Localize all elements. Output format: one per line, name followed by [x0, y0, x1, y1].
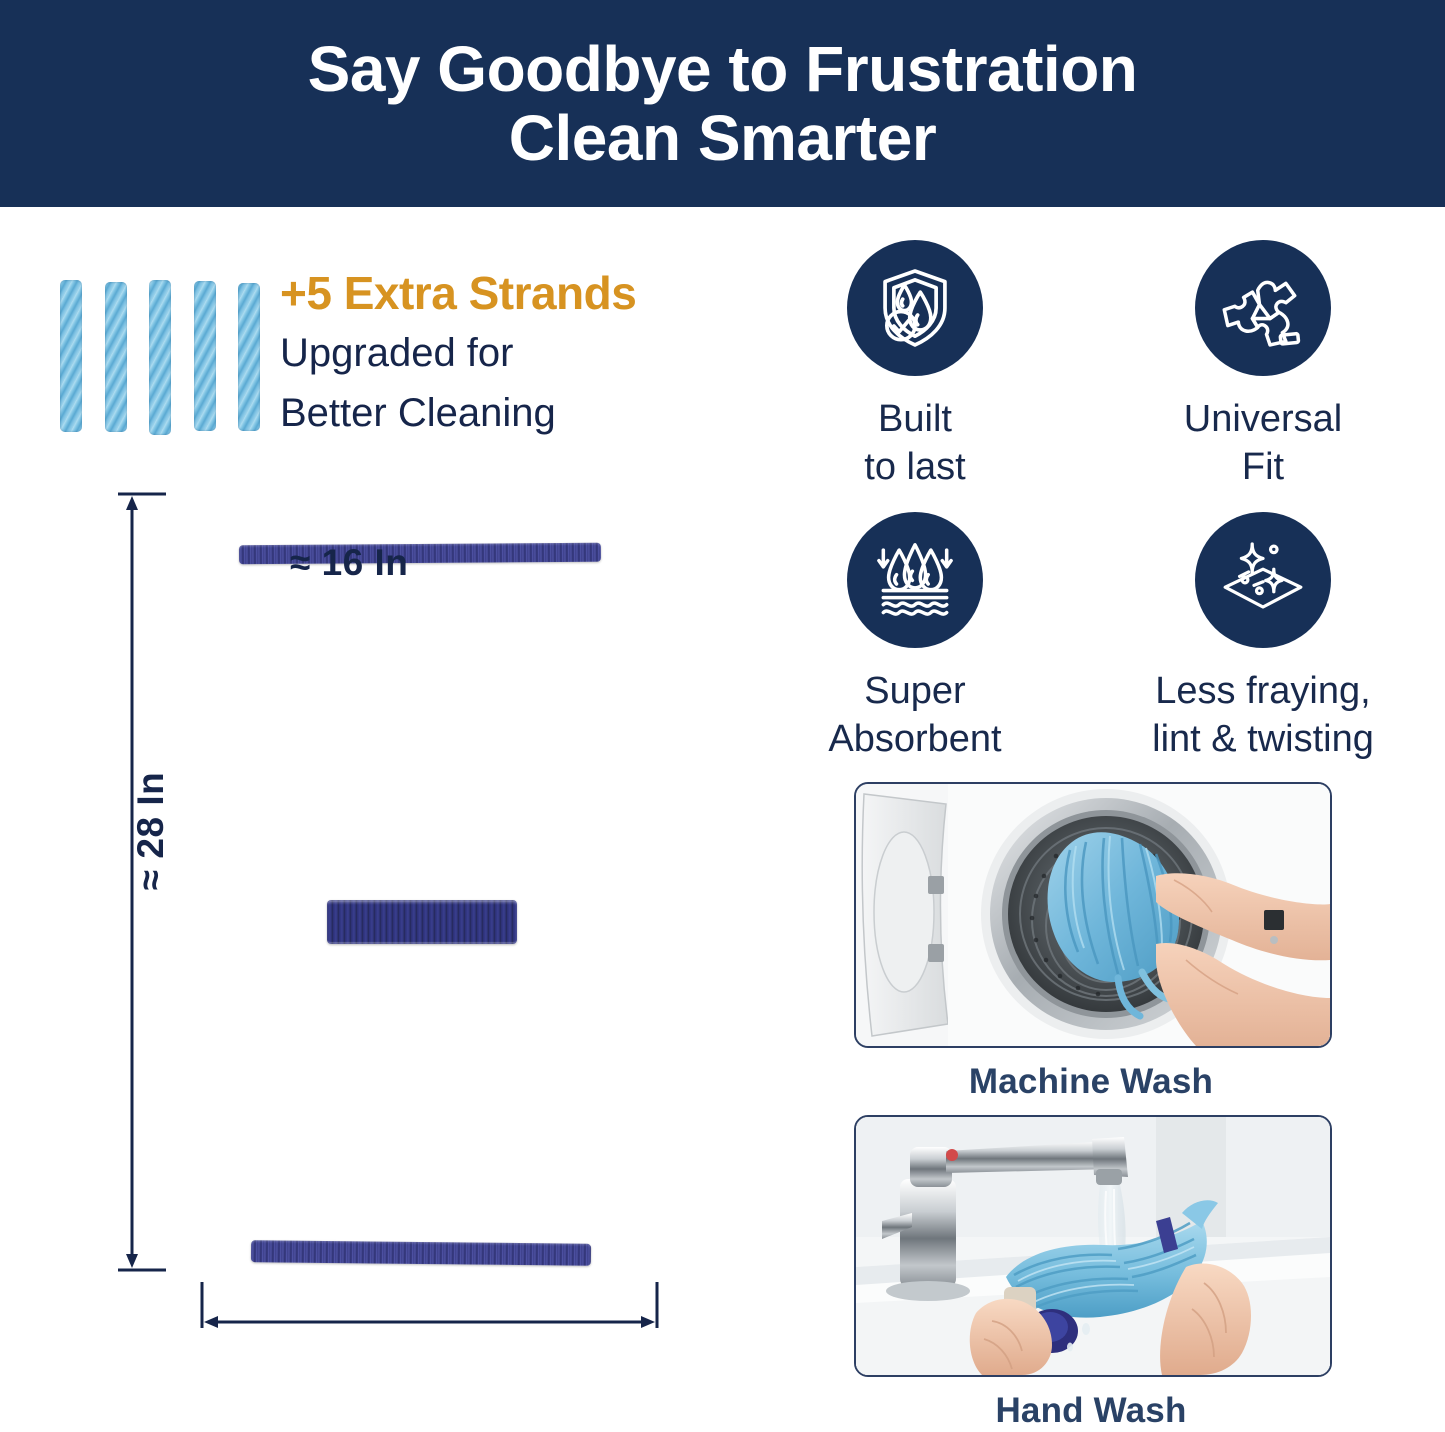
header-banner: Say Goodbye to Frustration Clean Smarter [0, 0, 1445, 207]
feature-label: Universal Fit [1184, 396, 1342, 491]
mop-in-washing-machine-photo [854, 782, 1332, 1048]
width-dimension-line [110, 1280, 670, 1380]
shield-water-check-icon [847, 240, 983, 376]
hand-wash-card: Hand Wash [854, 1115, 1328, 1431]
water-drops-absorb-icon [847, 512, 983, 648]
width-dimension-label: ≈ 16 In [290, 542, 408, 584]
height-dimension-label: ≈ 28 In [130, 772, 172, 890]
mop-under-faucet-photo [854, 1115, 1332, 1377]
rope-strands-group [60, 280, 260, 440]
rope-strand-icon [149, 280, 171, 435]
blue-looped-end-mop-head-image [195, 490, 645, 1340]
machine-wash-card: Machine Wash [854, 782, 1328, 1102]
rope-strand-icon [105, 282, 127, 432]
mop-upper-yarn [239, 530, 601, 920]
feature-less-fraying: Less fraying, lint & twisting [1103, 512, 1423, 763]
features-grid: Built to last Universal Fit [745, 240, 1435, 760]
header-title-line1: Say Goodbye to Frustration [308, 35, 1138, 103]
puzzle-pieces-icon [1195, 240, 1331, 376]
feature-label: Built to last [864, 396, 965, 491]
feature-super-absorbent: Super Absorbent [755, 512, 1075, 763]
feature-built-to-last: Built to last [755, 240, 1075, 491]
feature-label: Super Absorbent [828, 668, 1001, 763]
rope-strand-icon [194, 281, 216, 431]
extra-strands-block: +5 Extra Strands Upgraded for Better Cle… [52, 262, 712, 452]
extra-strands-headline: +5 Extra Strands [280, 268, 700, 320]
extra-strands-subline-2: Better Cleaning [280, 386, 700, 440]
product-image-with-dimensions: ≈ 28 In ≈ 16 In [110, 480, 670, 1380]
feature-label: Less fraying, lint & twisting [1152, 668, 1374, 763]
hand-wash-caption: Hand Wash [854, 1391, 1328, 1431]
rope-strand-icon [238, 283, 260, 431]
header-title-line2: Clean Smarter [509, 104, 936, 172]
rope-strand-icon [60, 280, 82, 432]
machine-wash-caption: Machine Wash [854, 1062, 1328, 1102]
feature-universal-fit: Universal Fit [1103, 240, 1423, 491]
extra-strands-text: +5 Extra Strands Upgraded for Better Cle… [280, 268, 700, 440]
extra-strands-subline-1: Upgraded for [280, 326, 700, 380]
sparkle-surface-icon [1195, 512, 1331, 648]
